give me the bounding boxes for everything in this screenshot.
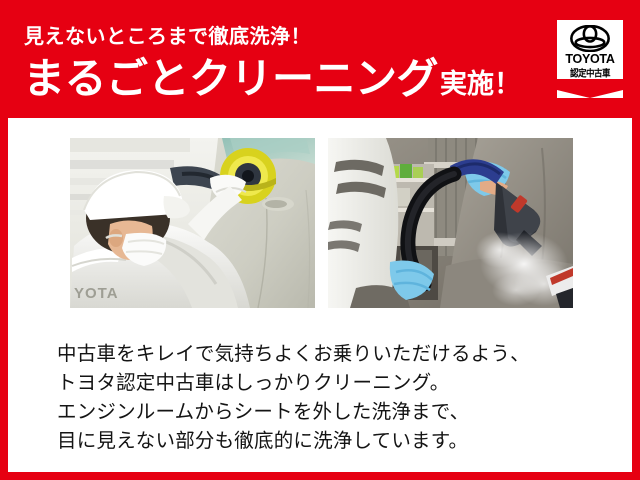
banner-headline-group: まるごとクリーニング 実施！: [23, 58, 521, 100]
promo-slide: 見えないところまで徹底洗浄！ まるごとクリーニング 実施！ TOYOTA 認定中…: [0, 0, 640, 480]
body-copy: 中古車をキレイで気持ちよくお乗りいただけるよう、 トヨタ認定中古車はしっかりクリ…: [57, 340, 530, 456]
logo-brand-text: TOYOTA: [565, 53, 614, 66]
body-copy-line-3: エンジンルームからシートを外した洗浄まで、: [57, 398, 530, 427]
toyota-certified-used-car-logo: TOYOTA 認定中古車: [557, 20, 623, 98]
banner-headline: まるごとクリーニング: [23, 58, 438, 100]
svg-text:YOTA: YOTA: [74, 285, 119, 302]
body-copy-line-1: 中古車をキレイで気持ちよくお乗りいただけるよう、: [57, 340, 530, 369]
photo-polishing-image: YOTA: [70, 138, 315, 308]
content-card: YOTA: [8, 118, 632, 472]
toyota-emblem-icon: [570, 25, 610, 52]
banner-subheadline: 見えないところまで徹底洗浄！: [24, 27, 311, 47]
body-copy-line-4: 目に見えない部分も徹底的に洗浄しています。: [57, 427, 530, 456]
body-copy-line-2: トヨタ認定中古車はしっかりクリーニング。: [57, 369, 530, 398]
content-card-frame: YOTA: [0, 112, 640, 480]
logo-certification-text: 認定中古車: [570, 68, 610, 78]
banner-headline-tail: 実施！: [440, 71, 521, 98]
header-banner: 見えないところまで徹底洗浄！ まるごとクリーニング 実施！ TOYOTA 認定中…: [0, 0, 640, 112]
photo-polishing: YOTA: [70, 138, 315, 308]
photo-steam-cleaning-image: [328, 138, 573, 308]
photo-steam-cleaning: [328, 138, 573, 308]
